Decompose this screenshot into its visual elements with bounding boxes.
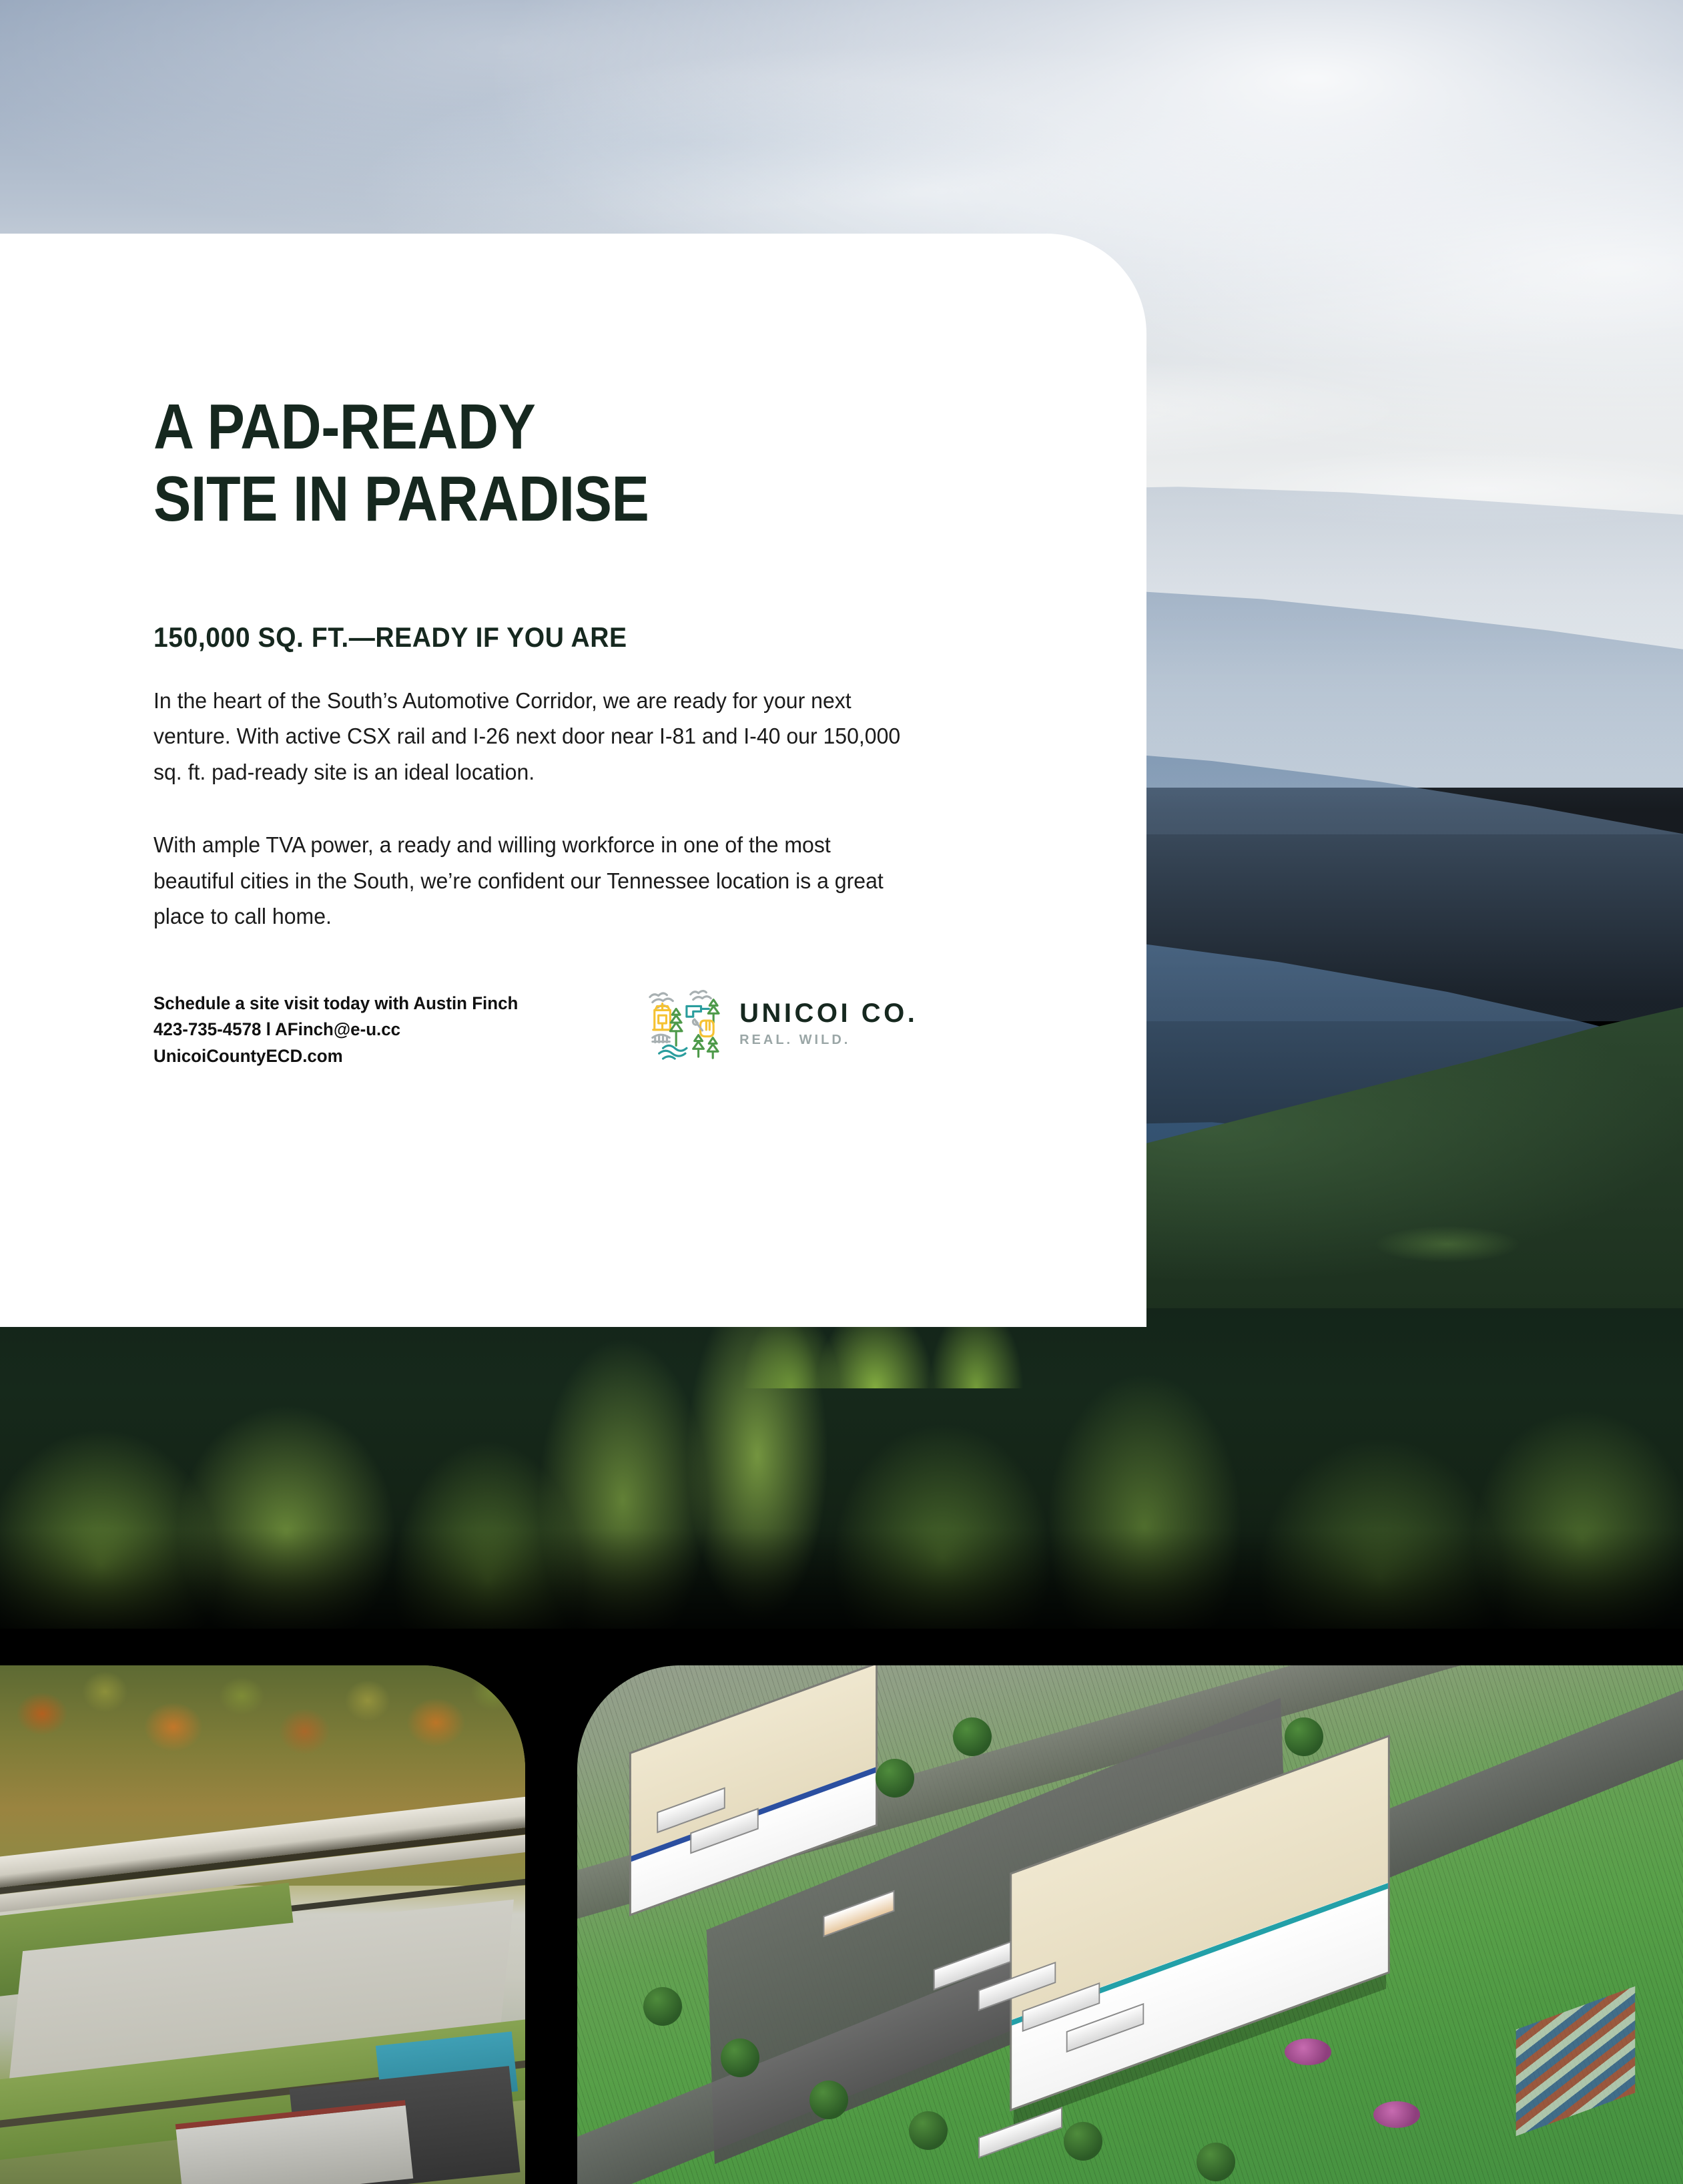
rendering-tree — [953, 1717, 992, 1756]
rendering-tree — [1197, 2143, 1235, 2181]
contact-block[interactable]: Schedule a site visit today with Austin … — [153, 991, 518, 1070]
body-paragraph-2: With ample TVA power, a ready and willin… — [153, 827, 918, 934]
logo-name: UNICOI CO. — [739, 1000, 918, 1027]
content-card: A PAD-READY SITE IN PARADISE 150,000 SQ.… — [0, 234, 1146, 1327]
logo-wordmark: UNICOI CO. REAL. WILD. — [739, 1000, 918, 1048]
rendering-flowering-shrub — [1373, 2101, 1420, 2128]
page-title: A PAD-READY SITE IN PARADISE — [153, 391, 957, 536]
contact-row: Schedule a site visit today with Austin … — [153, 991, 1066, 1070]
rendering-parked-cars — [1516, 1986, 1635, 2137]
rendering-tree — [909, 2111, 948, 2150]
content-card-inner: A PAD-READY SITE IN PARADISE 150,000 SQ.… — [153, 391, 1066, 1070]
subheadline: 150,000 SQ. FT.—READY IF YOU ARE — [153, 621, 1002, 653]
rendering-flowering-shrub — [1285, 2038, 1331, 2065]
unicoi-logo-lockup[interactable]: UNICOI CO. REAL. WILD. — [643, 987, 918, 1061]
aerial-site-photo — [0, 1665, 525, 2184]
logo-tagline: REAL. WILD. — [739, 1033, 918, 1048]
advertisement-page: A PAD-READY SITE IN PARADISE 150,000 SQ.… — [0, 0, 1683, 2184]
unicoi-outdoors-line-art-mark — [643, 987, 722, 1061]
foreground-foliage-band — [0, 1308, 1683, 1629]
rendering-tree — [876, 1759, 914, 1798]
bottom-image-strip — [0, 1665, 1683, 2184]
rendering-tree — [809, 2081, 848, 2119]
warehouse-rendering — [577, 1665, 1683, 2184]
body-paragraph-1: In the heart of the South’s Automotive C… — [153, 683, 918, 790]
rendering-tree — [1285, 1717, 1323, 1756]
rendering-tree — [1064, 2122, 1102, 2161]
rendering-tree — [643, 1987, 682, 2026]
rendering-truck — [978, 2107, 1062, 2159]
